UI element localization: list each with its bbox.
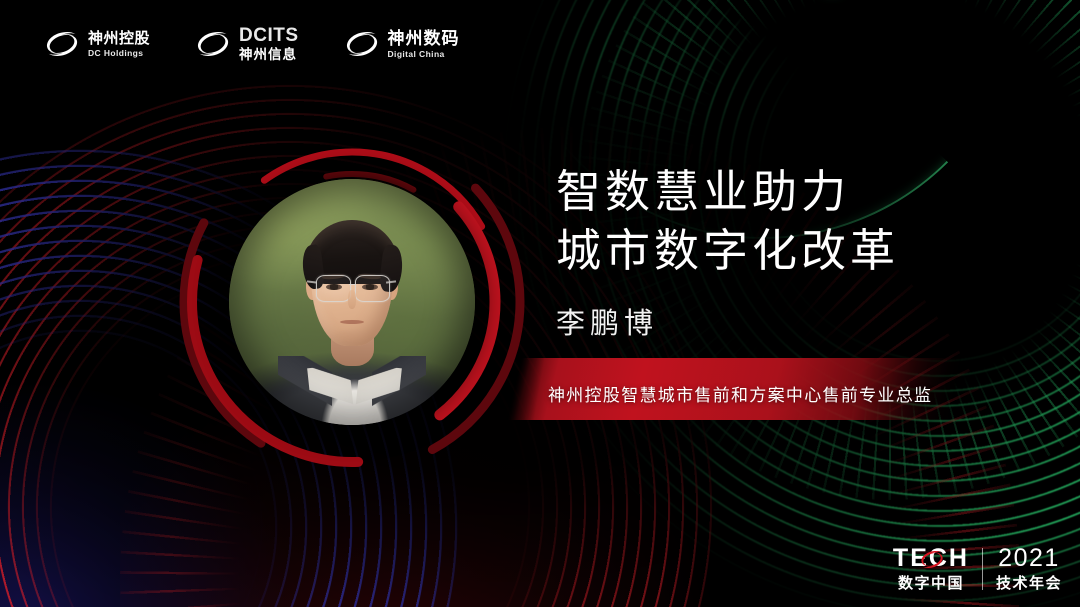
logo-dc-holdings-words: 神州控股 DC Holdings [88, 31, 150, 58]
logo-digital-china-cn: 神州数码 [388, 30, 460, 47]
dc-swoosh-icon [345, 31, 379, 57]
logo-dc-holdings: 神州控股 DC Holdings [45, 31, 150, 58]
event-brand-latin-wrap: TECH [893, 546, 969, 571]
speaker-photo [229, 179, 475, 425]
event-brand-block: TECH 数字中国 [893, 546, 969, 591]
logo-dcits-cn: 神州信息 [239, 48, 299, 62]
talk-title: 智数慧业助力 城市数字化改革 [556, 163, 899, 282]
dc-swoosh-icon [45, 31, 79, 57]
logo-digital-china: 神州数码 Digital China [345, 30, 460, 59]
logo-dc-holdings-en: DC Holdings [88, 49, 150, 58]
logo-dcits: DCITS 神州信息 [196, 26, 299, 62]
logo-dc-holdings-cn: 神州控股 [88, 31, 150, 46]
logo-dcits-en: DCITS [239, 26, 299, 45]
logo-digital-china-en: Digital China [388, 50, 460, 59]
event-lockup: TECH 数字中国 2021 技术年会 [893, 546, 1062, 591]
speaker-portrait-group [172, 122, 532, 482]
event-edition-block: 2021 技术年会 [996, 546, 1062, 591]
event-brand-cn: 数字中国 [898, 576, 964, 591]
logo-digital-china-words: 神州数码 Digital China [388, 30, 460, 59]
logo-bar: 神州控股 DC Holdings DCITS 神州信息 [45, 26, 460, 62]
event-year: 2021 [998, 546, 1060, 571]
speaker-role: 神州控股智慧城市售前和方案中心售前专业总监 [548, 381, 932, 406]
vignette-overlay [0, 0, 1080, 607]
dc-swoosh-icon [196, 31, 230, 57]
logo-dcits-words: DCITS 神州信息 [239, 26, 299, 62]
event-edition-cn: 技术年会 [996, 576, 1062, 591]
slide-canvas: 神州控股 DC Holdings DCITS 神州信息 [0, 0, 1080, 607]
speaker-name: 李鹏博 [556, 300, 658, 342]
dc-swoosh-icon [920, 549, 944, 568]
photo-inner-shadow [229, 179, 475, 425]
event-lockup-divider [982, 548, 983, 590]
